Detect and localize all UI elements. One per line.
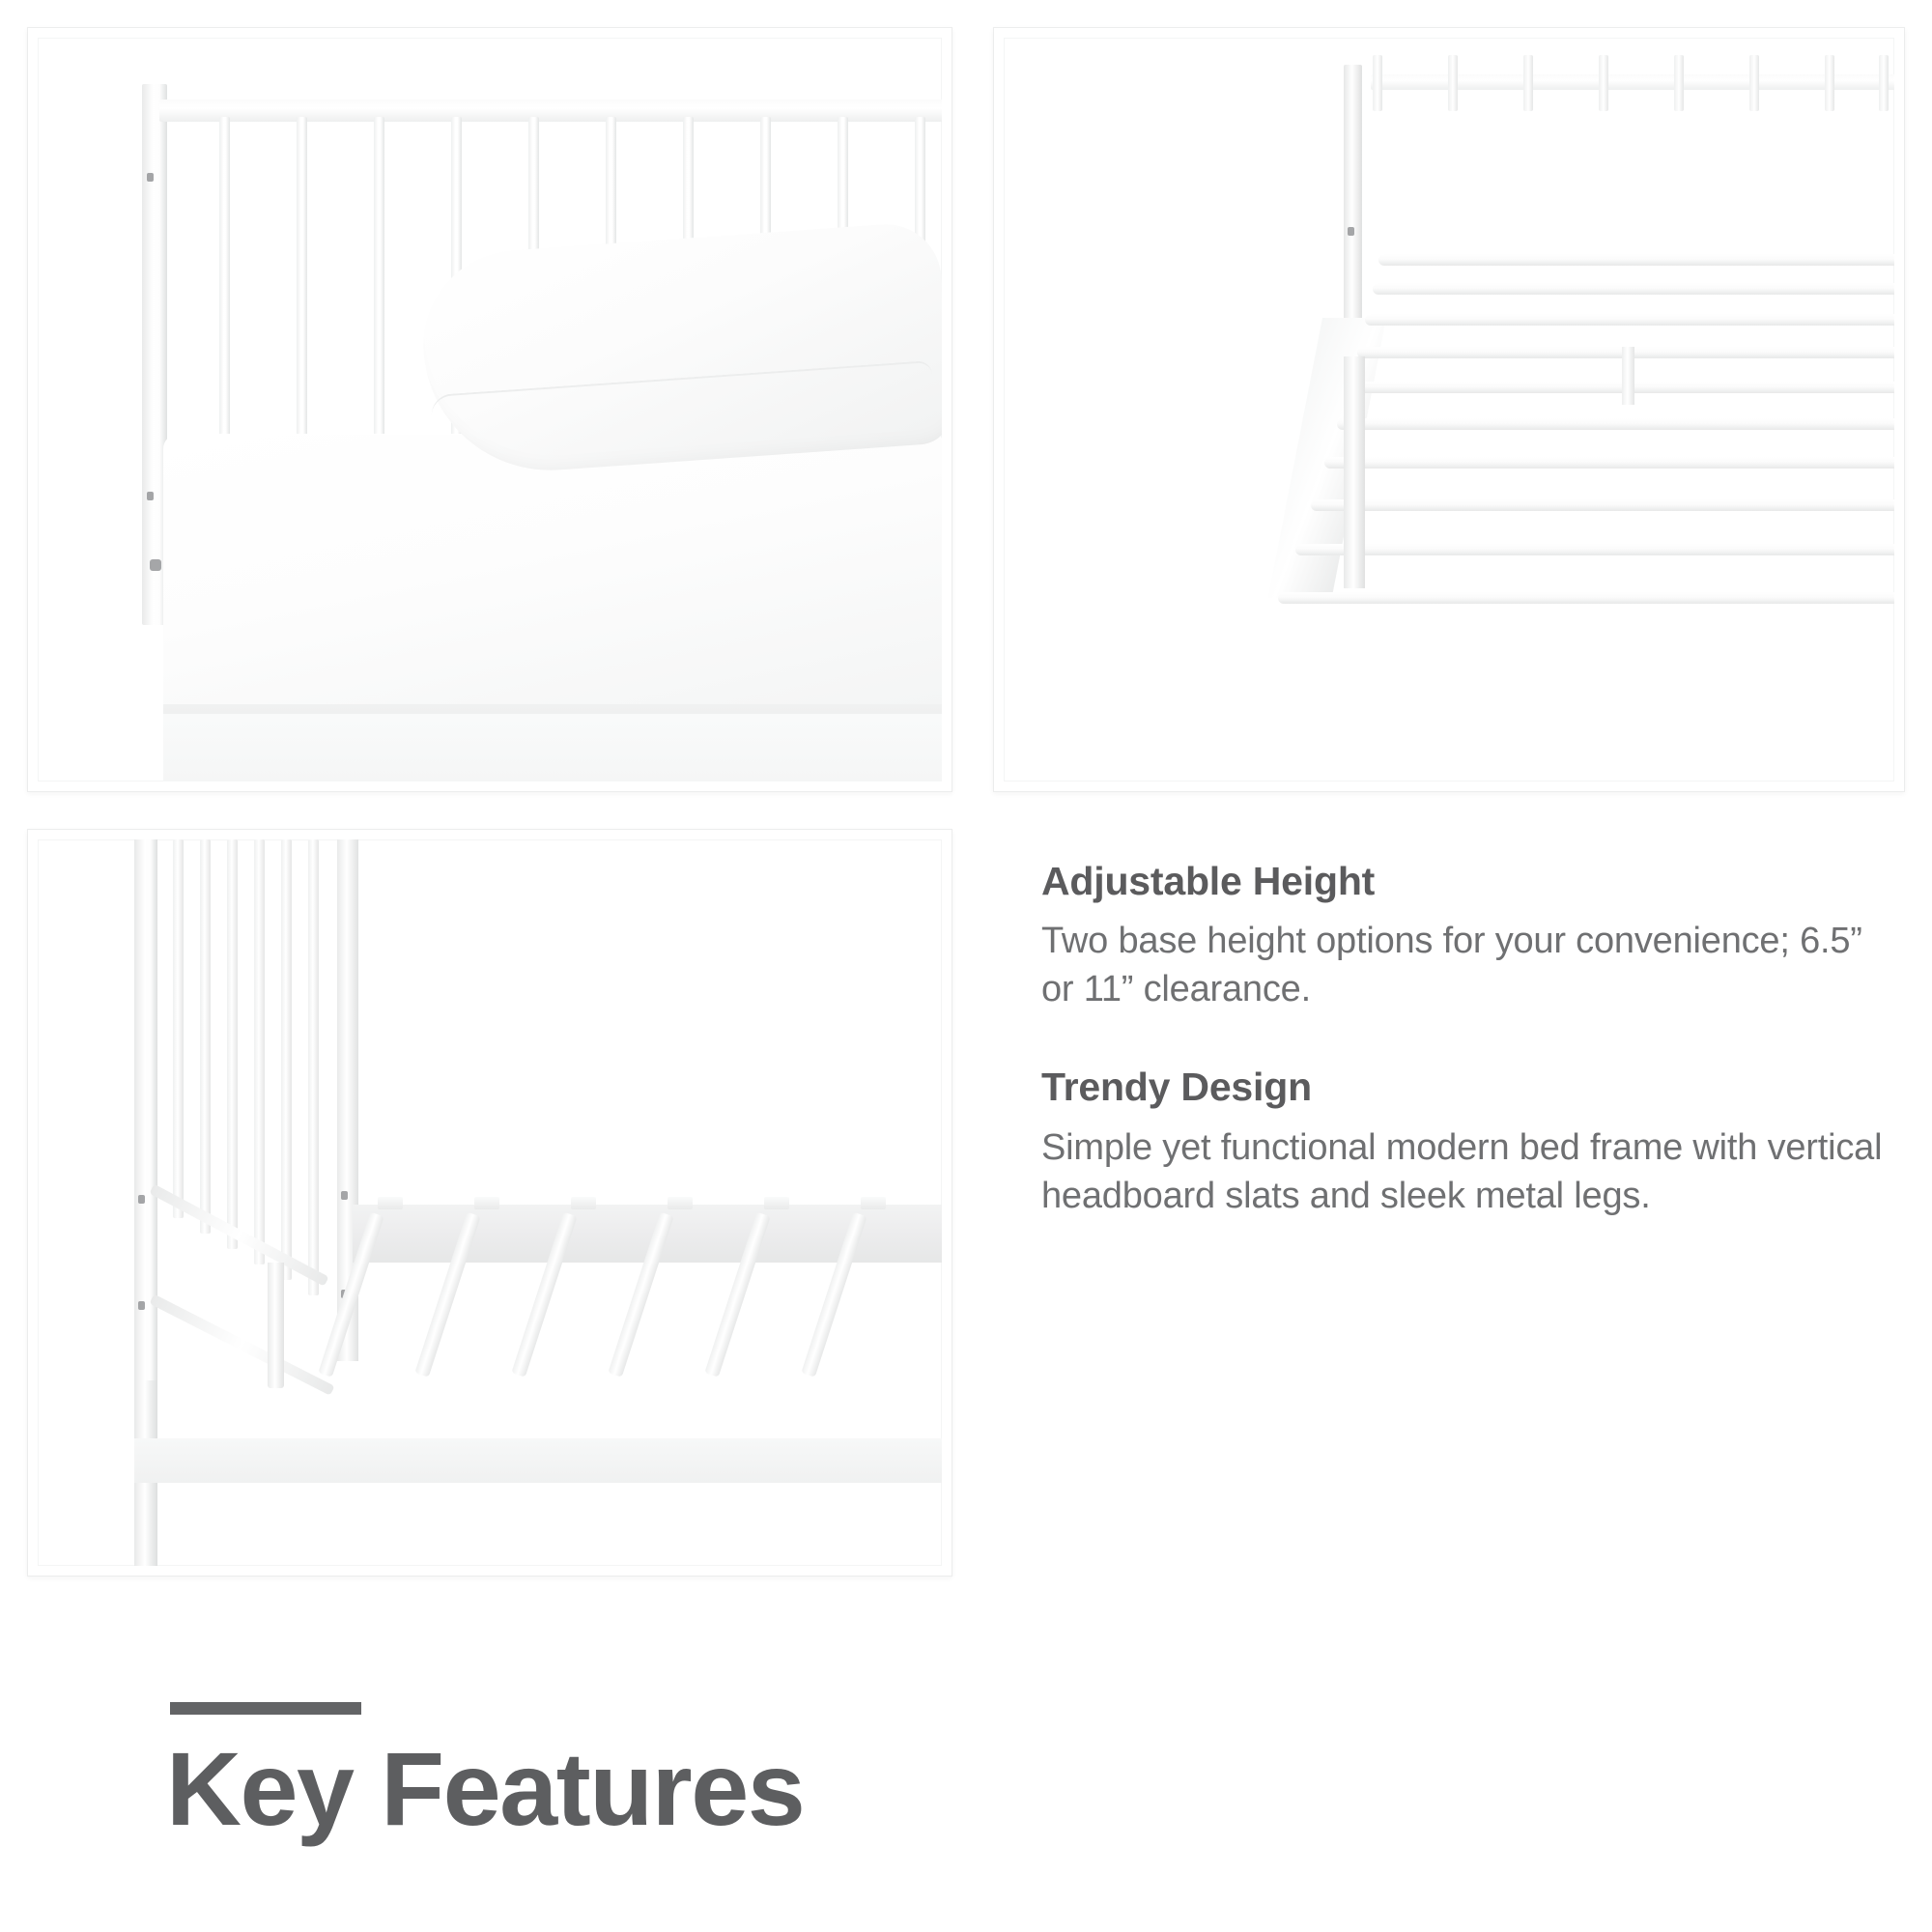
panel-platform-inner (1004, 38, 1894, 781)
footboard-headboard-slat (254, 839, 265, 1264)
footboard-slat-tab (571, 1197, 596, 1209)
mattress (163, 434, 942, 704)
platform-slat (1337, 418, 1894, 430)
platform-headboard-slat (1373, 55, 1382, 111)
footboard-center-leg (268, 1263, 284, 1388)
feature-title-adjustable-height: Adjustable Height (1041, 860, 1891, 903)
panel-footboard-side (27, 829, 952, 1577)
feature-trendy-design: Trendy Design Simple yet functional mode… (1041, 1065, 1891, 1219)
footboard-headboard-slat (173, 839, 184, 1218)
footboard-headboard-slat (281, 839, 292, 1280)
feature-list: Adjustable Height Two base height option… (1041, 860, 1891, 1272)
platform-slat (1348, 382, 1894, 393)
panel-footboard-inner (38, 839, 942, 1566)
panel-platform-slats (993, 27, 1905, 792)
headboard-bolt-bottom (147, 492, 154, 500)
platform-headboard-slat (1599, 55, 1608, 111)
platform-slat (1295, 544, 1894, 555)
panel-headboard-inner (38, 38, 942, 781)
headboard-bracket (150, 559, 161, 571)
footboard-bottom-rail (134, 1438, 942, 1483)
footboard-headboard-slat (200, 839, 211, 1234)
platform-slat (1311, 499, 1894, 511)
footboard-bracket-upper (341, 1191, 348, 1200)
headboard-bolt-top (147, 173, 154, 182)
platform-headboard-slat (1749, 55, 1759, 111)
footboard-slat-tab (474, 1197, 499, 1209)
platform-headboard-slat (1523, 55, 1533, 111)
platform-headboard-slat (1448, 55, 1458, 111)
footboard-bolt-upper (138, 1195, 145, 1204)
footboard-slat-tab (378, 1197, 403, 1209)
platform-headboard-slat (1674, 55, 1684, 111)
key-features-rule (170, 1702, 361, 1715)
key-features-title: Key Features (166, 1737, 804, 1841)
platform-slat (1324, 457, 1894, 469)
footboard-diagonal-rail-lower (150, 1294, 335, 1396)
feature-title-trendy-design: Trendy Design (1041, 1065, 1891, 1109)
footboard-headboard-slat (227, 839, 238, 1249)
platform-slat (1373, 283, 1894, 295)
headboard-stage (38, 38, 942, 781)
platform-slat (1378, 254, 1894, 266)
panel-headboard-closeup (27, 27, 952, 792)
feature-description-trendy-design: Simple yet functional modern bed frame w… (1041, 1123, 1891, 1220)
platform-stage (1004, 38, 1894, 781)
platform-headboard-slat (1879, 55, 1889, 111)
feature-adjustable-height: Adjustable Height Two base height option… (1041, 860, 1891, 1013)
footboard-diagonal-rail-upper (149, 1184, 328, 1287)
platform-corner-post (1344, 65, 1362, 353)
platform-slat (1365, 314, 1894, 326)
footboard-stage (38, 839, 942, 1566)
platform-slat (1278, 592, 1894, 604)
platform-corner-leg (1344, 356, 1365, 588)
platform-bolt (1348, 227, 1354, 236)
platform-center-leg (1622, 347, 1634, 405)
footboard-headboard-slat (308, 839, 319, 1295)
footboard-slat-tab (861, 1197, 886, 1209)
footboard-slat-tab (764, 1197, 789, 1209)
feature-description-adjustable-height: Two base height options for your conveni… (1041, 917, 1891, 1013)
footboard-bolt-lower (138, 1301, 145, 1310)
headboard-top-rail (159, 99, 942, 122)
platform-headboard-slat (1825, 55, 1834, 111)
footboard-slat-tab (668, 1197, 693, 1209)
